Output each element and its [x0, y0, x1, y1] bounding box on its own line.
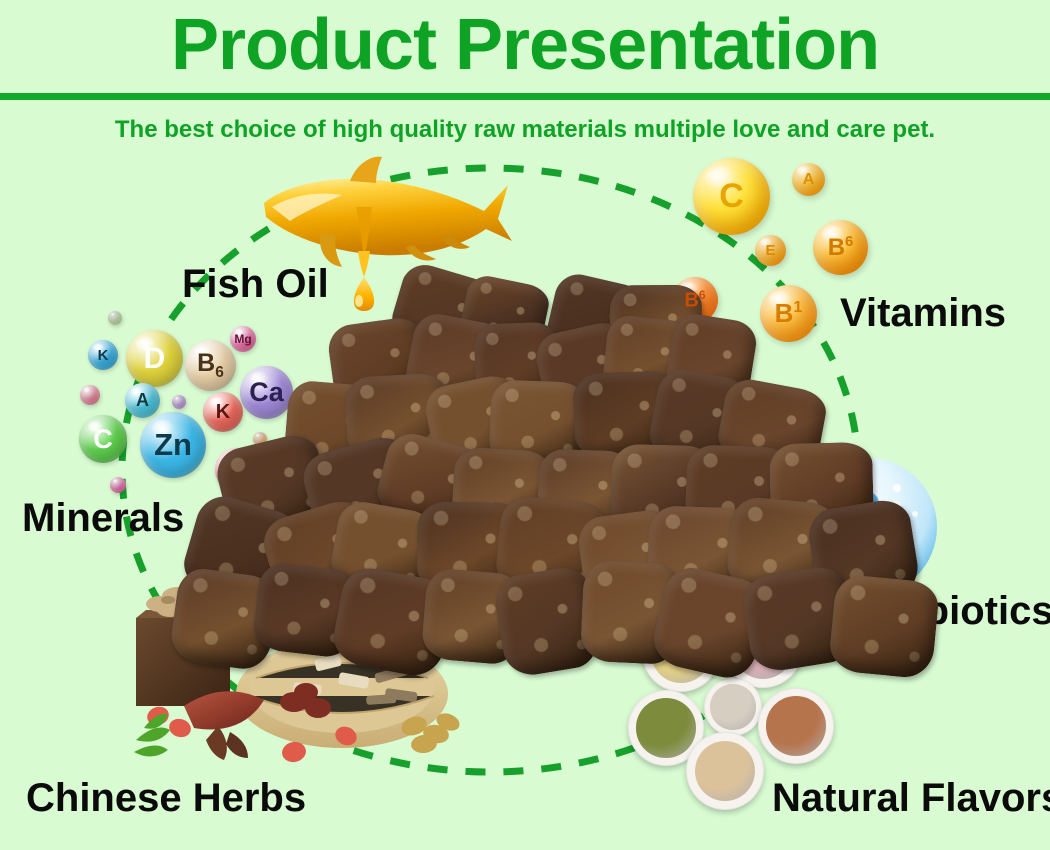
label-fish-oil: Fish Oil	[182, 262, 329, 307]
vitamin-capsule-label: B6	[828, 234, 854, 262]
mineral-bubble-dot-14	[110, 477, 126, 493]
mineral-bubble-label: K	[216, 401, 230, 424]
mineral-bubble-d: D	[126, 330, 183, 387]
mineral-bubble-label: B6	[197, 349, 224, 382]
mineral-bubble-mg: Mg	[230, 326, 256, 352]
product-presentation-banner: Product Presentation The best choice of …	[0, 0, 1050, 850]
mineral-bubble-label: C	[93, 424, 113, 455]
mineral-bubble-a: A	[125, 383, 160, 418]
flavor-bowl-white-powder	[704, 678, 762, 736]
label-natural-flavors: Natural Flavors	[772, 776, 1050, 821]
vitamin-capsule-a-1: A	[792, 163, 825, 196]
page-title: Product Presentation	[0, 2, 1050, 88]
header-divider	[0, 93, 1050, 100]
vitamin-capsule-label: C	[719, 177, 744, 216]
flavor-powder	[695, 741, 756, 802]
vitamin-capsule-e-2: E	[755, 235, 786, 266]
banner-header: Product Presentation	[0, 0, 1050, 96]
vitamin-capsule-label: B1	[775, 298, 803, 329]
flavor-powder	[636, 698, 695, 757]
label-minerals: Minerals	[22, 496, 184, 541]
vitamin-capsule-label: E	[765, 242, 775, 259]
mineral-bubble-dot-11	[80, 385, 100, 405]
vitamin-capsule-b6-3: B6	[813, 220, 868, 275]
mineral-bubble-label: D	[144, 342, 166, 376]
flavor-powder	[710, 684, 755, 729]
mineral-bubble-label: Mg	[234, 332, 251, 346]
vitamin-capsule-label: B6	[684, 288, 705, 313]
flavor-bowl-beige-powder	[686, 732, 764, 810]
mineral-bubble-b6: B6	[185, 340, 236, 391]
mineral-bubble-k: K	[88, 340, 118, 370]
mineral-bubble-dot-10	[108, 311, 122, 325]
mineral-bubble-label: A	[136, 390, 149, 411]
mineral-bubble-label: K	[98, 347, 109, 364]
mineral-bubble-label: Zn	[154, 427, 192, 463]
mineral-bubble-k: K	[203, 392, 243, 432]
kibble-piece	[828, 573, 941, 680]
mineral-bubble-label: Ca	[249, 377, 284, 408]
flavor-bowl-brown-powder	[758, 688, 834, 764]
page-subtitle: The best choice of high quality raw mate…	[0, 116, 1050, 144]
vitamin-capsule-label: A	[803, 171, 815, 189]
vitamin-capsule-b1-5: B1	[760, 285, 817, 342]
flavor-powder	[766, 696, 825, 755]
mineral-bubble-zn: Zn	[140, 412, 206, 478]
vitamin-capsule-c-0: C	[693, 158, 770, 235]
mineral-bubble-ca: Ca	[240, 366, 293, 419]
label-chinese-herbs: Chinese Herbs	[26, 776, 306, 821]
mineral-bubble-dot-12	[172, 395, 186, 409]
mineral-bubble-c: C	[79, 415, 127, 463]
label-vitamins: Vitamins	[840, 291, 1006, 336]
